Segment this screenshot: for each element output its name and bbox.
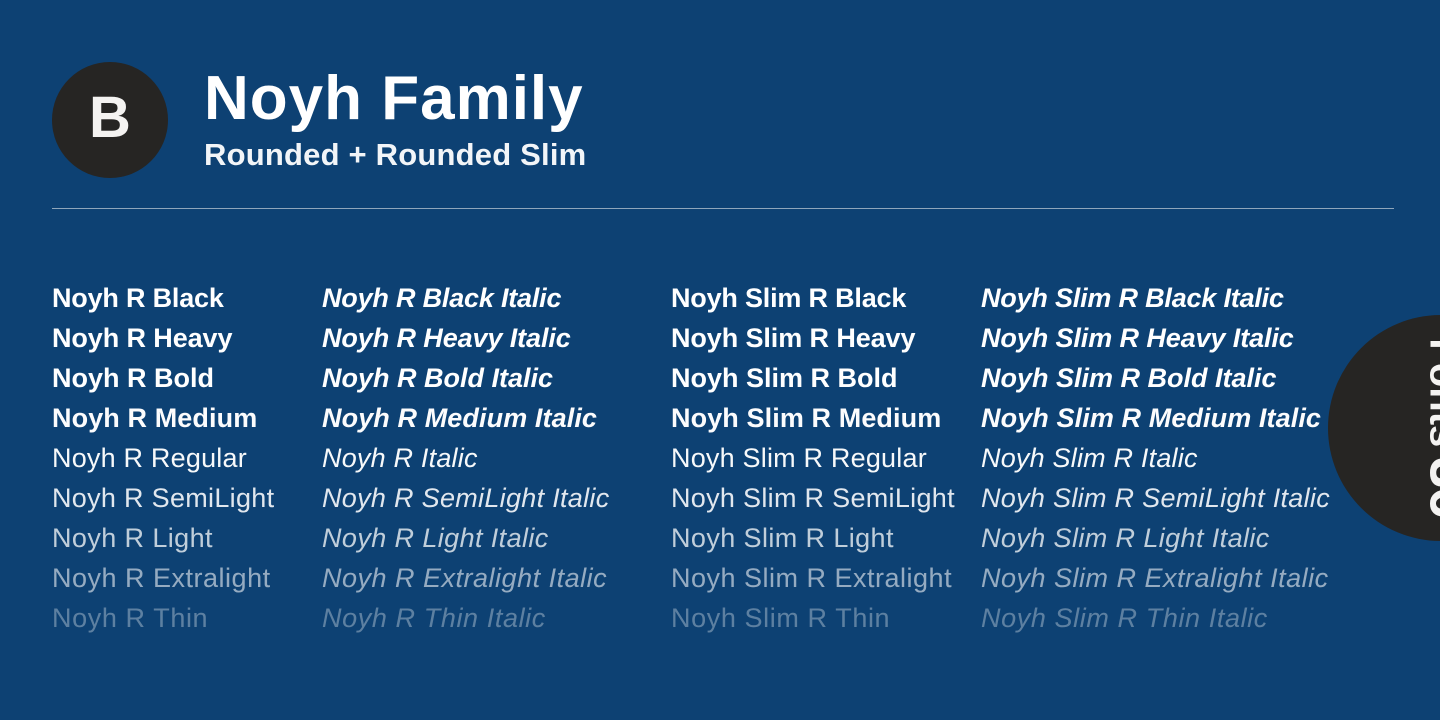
- style-row: Noyh Slim R Extralight Italic: [981, 558, 1330, 598]
- style-row: Noyh Slim R SemiLight: [671, 478, 955, 518]
- style-row: Noyh R Extralight Italic: [322, 558, 610, 598]
- style-row: Noyh Slim R SemiLight Italic: [981, 478, 1330, 518]
- style-column-noyh-rounded-upright: Noyh R Black Noyh R Heavy Noyh R Bold No…: [52, 278, 274, 638]
- style-row: Noyh Slim R Thin Italic: [981, 598, 1330, 638]
- style-row: Noyh Slim R Extralight: [671, 558, 955, 598]
- page-title: Noyh Family: [204, 66, 586, 131]
- brand-logo-letter: B: [89, 89, 131, 147]
- font-specimen-poster: Fonts 36 B Noyh Family Rounded + Rounded…: [0, 0, 1440, 720]
- style-row: Noyh R Light: [52, 518, 274, 558]
- style-row: Noyh R Heavy: [52, 318, 274, 358]
- style-row: Noyh R Medium: [52, 398, 274, 438]
- style-row: Noyh R Medium Italic: [322, 398, 610, 438]
- style-row: Noyh Slim R Regular: [671, 438, 955, 478]
- header-divider: [52, 208, 1394, 209]
- style-row: Noyh Slim R Black Italic: [981, 278, 1330, 318]
- style-row: Noyh R Italic: [322, 438, 610, 478]
- style-row: Noyh Slim R Light Italic: [981, 518, 1330, 558]
- style-row: Noyh Slim R Italic: [981, 438, 1330, 478]
- brand-logo: B: [52, 62, 168, 178]
- style-column-noyh-slim-italic: Noyh Slim R Black Italic Noyh Slim R Hea…: [981, 278, 1330, 638]
- style-column-noyh-slim-upright: Noyh Slim R Black Noyh Slim R Heavy Noyh…: [671, 278, 955, 638]
- style-row: Noyh Slim R Heavy Italic: [981, 318, 1330, 358]
- style-row: Noyh Slim R Light: [671, 518, 955, 558]
- poster-header: B Noyh Family Rounded + Rounded Slim: [52, 62, 586, 178]
- style-row: Noyh R Black Italic: [322, 278, 610, 318]
- style-row: Noyh R SemiLight: [52, 478, 274, 518]
- style-row: Noyh Slim R Thin: [671, 598, 955, 638]
- style-row: Noyh R Bold Italic: [322, 358, 610, 398]
- style-column-noyh-rounded-italic: Noyh R Black Italic Noyh R Heavy Italic …: [322, 278, 610, 638]
- style-row: Noyh Slim R Bold Italic: [981, 358, 1330, 398]
- style-row: Noyh Slim R Bold: [671, 358, 955, 398]
- style-row: Noyh R Black: [52, 278, 274, 318]
- style-row: Noyh Slim R Medium: [671, 398, 955, 438]
- style-row: Noyh R Bold: [52, 358, 274, 398]
- style-row: Noyh R SemiLight Italic: [322, 478, 610, 518]
- style-row: Noyh R Extralight: [52, 558, 274, 598]
- style-row: Noyh Slim R Black: [671, 278, 955, 318]
- style-row: Noyh R Thin: [52, 598, 274, 638]
- title-block: Noyh Family Rounded + Rounded Slim: [204, 66, 586, 173]
- style-row: Noyh R Thin Italic: [322, 598, 610, 638]
- style-row: Noyh R Regular: [52, 438, 274, 478]
- style-row: Noyh Slim R Heavy: [671, 318, 955, 358]
- page-subtitle: Rounded + Rounded Slim: [204, 134, 586, 172]
- style-row: Noyh R Light Italic: [322, 518, 610, 558]
- style-row: Noyh Slim R Medium Italic: [981, 398, 1330, 438]
- style-list-columns: Noyh R Black Noyh R Heavy Noyh R Bold No…: [0, 278, 1440, 658]
- style-row: Noyh R Heavy Italic: [322, 318, 610, 358]
